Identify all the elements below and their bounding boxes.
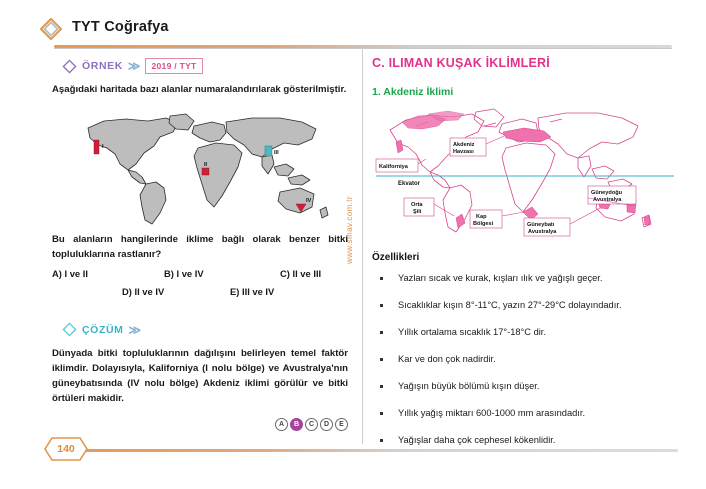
answer-key-B: B — [290, 418, 303, 431]
svg-text:Akdeniz: Akdeniz — [453, 142, 475, 148]
list-item: Kar ve don çok nadirdir. — [372, 353, 672, 366]
answer-options: A) I ve II B) I ve IV C) II ve III D) II… — [52, 268, 352, 304]
list-item: Yazları sıcak ve kurak, kışları ılık ve … — [372, 272, 672, 285]
svg-text:Avustralya: Avustralya — [528, 229, 557, 235]
diamond-icon — [62, 59, 77, 74]
svg-text:Kaliforniya: Kaliforniya — [379, 164, 409, 170]
diamond-icon — [40, 18, 62, 40]
diamond-icon — [62, 322, 77, 337]
svg-text:IV: IV — [306, 198, 312, 204]
left-column: ÖRNEK ≫ 2019 / TYT Aşağıdaki haritada ba… — [52, 50, 352, 450]
answer-key-D: D — [320, 418, 333, 431]
question-intro: Aşağıdaki haritada bazı alanlar numarala… — [52, 82, 348, 97]
svg-text:II: II — [204, 162, 208, 168]
option-A[interactable]: A) I ve II — [52, 268, 88, 279]
region-III-marker — [265, 146, 272, 156]
svg-text:Ekvator: Ekvator — [398, 181, 421, 187]
subsection-title: 1. Akdeniz İklimi — [372, 86, 453, 98]
option-E[interactable]: E) III ve IV — [230, 286, 274, 297]
footer-rule — [78, 449, 678, 452]
column-divider — [362, 46, 363, 444]
option-C[interactable]: C) II ve III — [280, 268, 321, 279]
chevron-right-icon: ≫ — [129, 324, 142, 336]
region-II-marker — [202, 168, 209, 175]
svg-text:Güneydoğu: Güneydoğu — [591, 190, 623, 196]
features-list: Yazları sıcak ve kurak, kışları ılık ve … — [372, 272, 672, 461]
features-title: Özellikleri — [372, 252, 419, 263]
option-D[interactable]: D) II ve IV — [122, 286, 164, 297]
answer-key-E: E — [335, 418, 348, 431]
svg-text:Avustralya: Avustralya — [593, 197, 622, 203]
solution-badge: ÇÖZÜM ≫ — [62, 322, 141, 337]
right-column: C. ILIMAN KUŞAK İKLİMLERİ 1. Akdeniz İkl… — [372, 46, 678, 452]
option-B[interactable]: B) I ve IV — [164, 268, 204, 279]
list-item: Yağışın büyük bölümü kışın düşer. — [372, 380, 672, 393]
region-I-marker — [94, 140, 99, 154]
solution-text: Dünyada bitki topluluklarının dağılışını… — [52, 346, 348, 406]
mediterranean-climate-world-map: Kaliforniya Akdeniz Havzası Ekvator Orta… — [372, 106, 678, 244]
chevron-right-icon: ≫ — [128, 60, 141, 72]
svg-text:Kap: Kap — [476, 214, 487, 220]
page-number-badge: 140 — [44, 437, 88, 461]
svg-text:Güneybatı: Güneybatı — [527, 222, 555, 228]
answer-key-C: C — [305, 418, 318, 431]
list-item: Sıcaklıklar kışın 8°-11°C, yazın 27°-29°… — [372, 299, 672, 312]
svg-text:Bölgesi: Bölgesi — [473, 221, 494, 227]
list-item: Yıllık ortalama sıcaklık 17°-18°C dir. — [372, 326, 672, 339]
page-footer: 140 — [44, 437, 684, 463]
question-prompt: Bu alanların hangilerinde iklime bağlı o… — [52, 232, 348, 262]
section-title: C. ILIMAN KUŞAK İKLİMLERİ — [372, 56, 550, 70]
answer-key-A: A — [275, 418, 288, 431]
svg-text:III: III — [274, 150, 279, 156]
world-map-numbered: I II III IV — [74, 112, 336, 228]
page-title: TYT Coğrafya — [72, 19, 169, 35]
list-item: Yıllık yağış miktarı 600-1000 mm arasınd… — [372, 407, 672, 420]
answer-key: A B C D E — [52, 418, 348, 431]
page-number: 140 — [44, 437, 88, 461]
textbook-page: TYT Coğrafya www.sinav.com.tr ÖRNEK ≫ 20… — [0, 0, 706, 489]
solution-label: ÇÖZÜM — [82, 324, 124, 336]
page-header: TYT Coğrafya — [40, 14, 672, 44]
example-badge: ÖRNEK ≫ 2019 / TYT — [62, 58, 203, 74]
svg-text:Havzası: Havzası — [453, 149, 474, 155]
exam-year-badge: 2019 / TYT — [145, 58, 202, 74]
svg-text:Orta: Orta — [411, 202, 423, 208]
svg-text:Şili: Şili — [413, 209, 422, 215]
example-label: ÖRNEK — [82, 60, 123, 72]
